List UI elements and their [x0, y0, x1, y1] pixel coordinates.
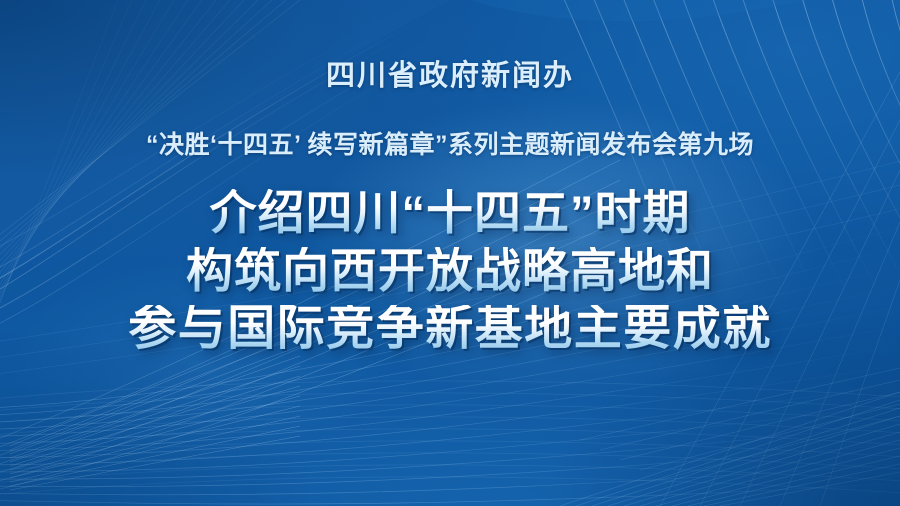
news-conference-poster: 四川省政府新闻办 “决胜‘十四五’ 续写新篇章”系列主题新闻发布会第九场 介绍四… — [0, 0, 900, 506]
headline-line-3: 参与国际竞争新基地主要成就 — [128, 305, 772, 353]
headline-line-1: 介绍四川“十四五”时期 — [209, 189, 690, 236]
series-subtitle: “决胜‘十四五’ 续写新篇章”系列主题新闻发布会第九场 — [146, 125, 754, 161]
headline-block: 介绍四川“十四五”时期 构筑向西开放战略高地和 参与国际竞争新基地主要成就 — [128, 189, 772, 364]
poster-content: 四川省政府新闻办 “决胜‘十四五’ 续写新篇章”系列主题新闻发布会第九场 介绍四… — [0, 0, 900, 506]
organization-name: 四川省政府新闻办 — [326, 52, 574, 94]
headline-line-2: 构筑向西开放战略高地和 — [186, 247, 714, 294]
